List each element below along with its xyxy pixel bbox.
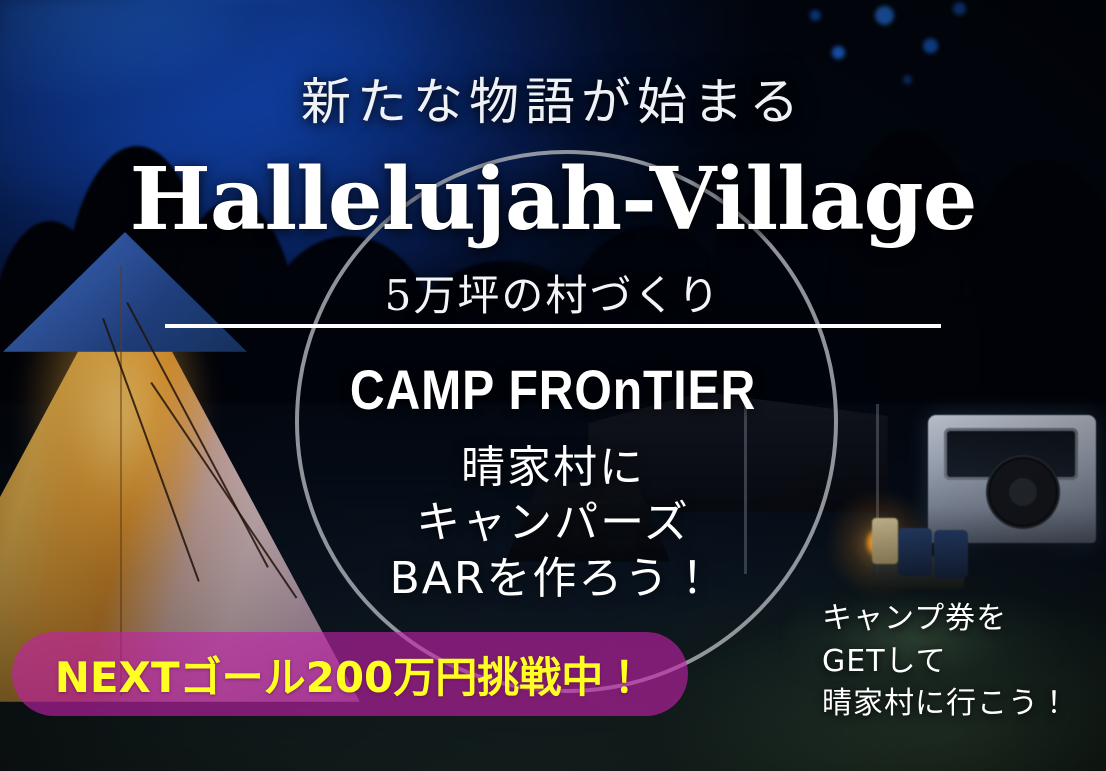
cta-line-3: 晴家村に行こう！ [822, 683, 1102, 726]
next-goal-banner[interactable]: NEXTゴール200万円挑戦中！ [12, 632, 688, 716]
cta-line-2: GETして [822, 641, 1102, 684]
cta-block: キャンプ券を GETして 晴家村に行こう！ [822, 598, 1102, 726]
subtitle: 5万坪の村づくり [0, 262, 1106, 323]
cta-line-1: キャンプ券を [822, 598, 1102, 641]
campaign-hero: 新たな物語が始まる Hallelujah-Village 5万坪の村づくり CA… [0, 0, 1106, 771]
brand-title-text: Hallelujah-Village [130, 155, 977, 245]
message-line-1: 晴家村に [0, 440, 1106, 495]
message-line-2: キャンパーズ [0, 495, 1106, 550]
project-name: CAMP FROnTIER [77, 357, 1028, 422]
message-block: 晴家村に キャンパーズ BARを作ろう！ [0, 440, 1106, 606]
next-goal-label: NEXTゴール200万円挑戦中！ [55, 644, 646, 705]
brand-title: Hallelujah-Village [0, 155, 1106, 245]
tagline-top: 新たな物語が始まる [0, 62, 1106, 134]
horizontal-divider [165, 324, 941, 328]
